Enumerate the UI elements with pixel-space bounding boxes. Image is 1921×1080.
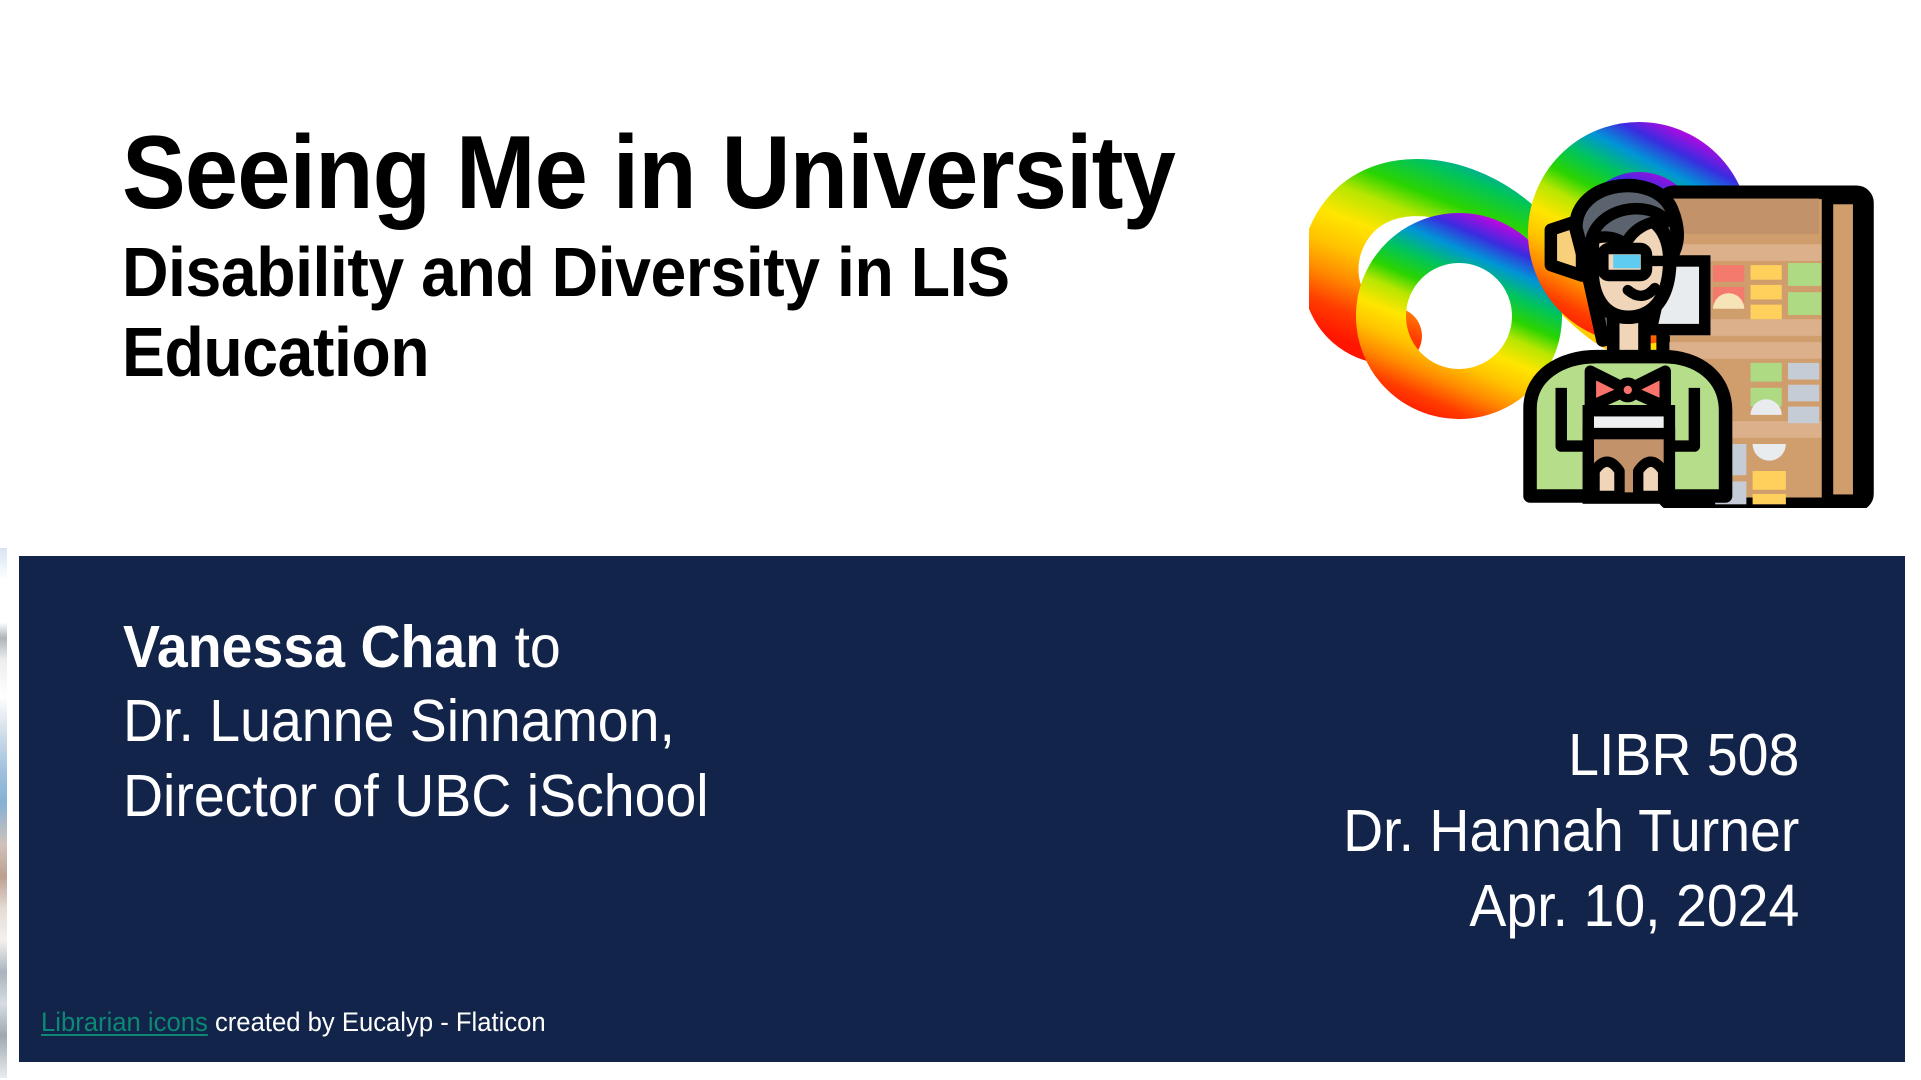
attribution-text: created by Eucalyp - Flaticon — [208, 1007, 546, 1037]
presenter-preposition: to — [499, 614, 561, 680]
course-instructor: Dr. Hannah Turner — [1343, 794, 1799, 870]
neurodiversity-infinity-icon — [1330, 125, 1747, 418]
attribution-link[interactable]: Librarian icons — [41, 1007, 208, 1037]
title-area: Seeing Me in University Disability and D… — [122, 120, 1352, 393]
recipient-name: Dr. Luanne Sinnamon, — [123, 684, 709, 758]
presenter-line-1: Vanessa Chan to — [123, 610, 709, 684]
presenter-name: Vanessa Chan — [123, 614, 499, 680]
page-title: Seeing Me in University — [122, 120, 1254, 227]
info-panel: Vanessa Chan to Dr. Luanne Sinnamon, Dir… — [19, 556, 1905, 1062]
course-code: LIBR 508 — [1343, 718, 1799, 794]
librarian-icon — [1530, 186, 1867, 505]
course-block: LIBR 508 Dr. Hannah Turner Apr. 10, 2024 — [1314, 718, 1799, 945]
attribution: Librarian icons created by Eucalyp - Fla… — [41, 1007, 546, 1038]
page-subtitle: Disability and Diversity in LIS Educatio… — [122, 233, 1208, 393]
presentation-date: Apr. 10, 2024 — [1343, 869, 1799, 945]
screen-edge-artifact — [0, 548, 7, 1078]
artwork-container — [1309, 48, 1899, 508]
recipient-title: Director of UBC iSchool — [123, 759, 709, 833]
presenter-block: Vanessa Chan to Dr. Luanne Sinnamon, Dir… — [123, 610, 746, 833]
